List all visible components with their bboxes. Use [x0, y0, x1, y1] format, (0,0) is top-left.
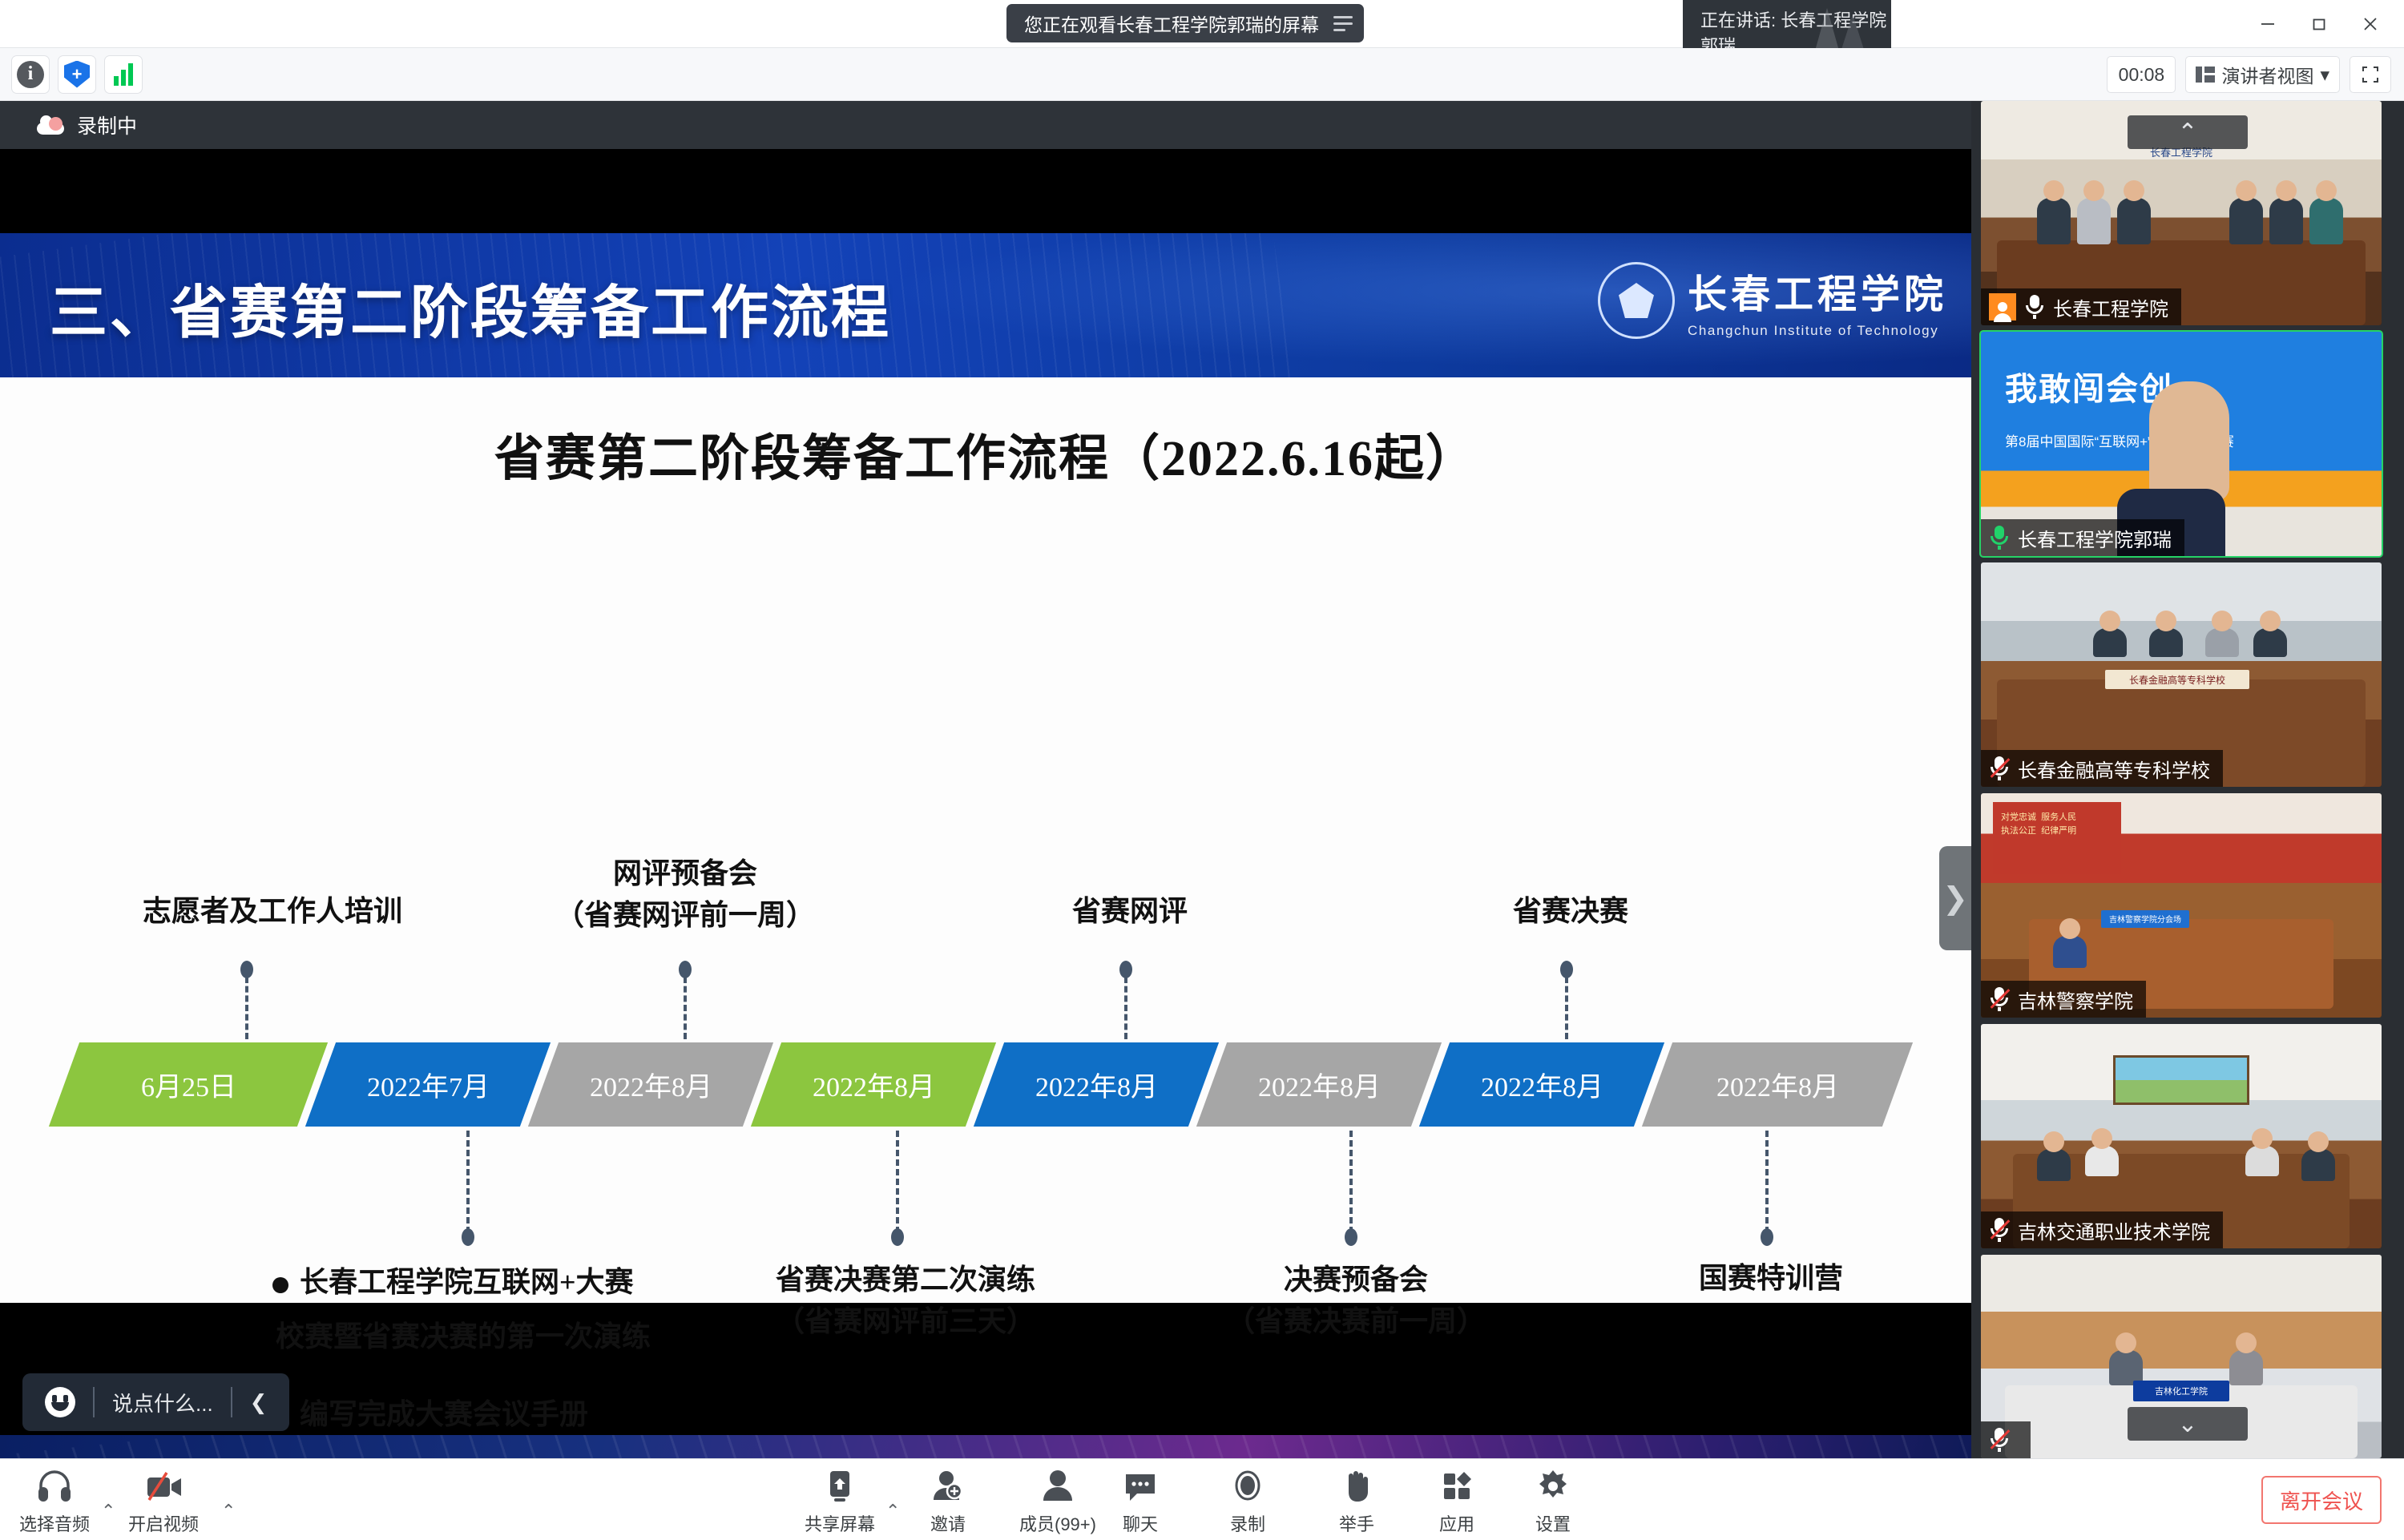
- timeline-marker-dot: [1761, 1228, 1773, 1246]
- chevron-down-icon: ⌄: [2177, 1410, 2197, 1438]
- chat-input[interactable]: 说点什么...: [95, 1381, 231, 1423]
- maximize-button[interactable]: [2293, 1, 2345, 47]
- participant-tile[interactable]: 吉林交通职业技术学院: [1981, 1024, 2382, 1248]
- timeline-segment: 2022年8月: [974, 1042, 1219, 1127]
- timeline-segment: 2022年7月: [305, 1042, 551, 1127]
- timeline-segment-label: 2022年8月: [1481, 1065, 1603, 1104]
- chat-button[interactable]: 聊天: [1122, 1467, 1159, 1536]
- security-button[interactable]: +: [58, 55, 96, 94]
- video-options-caret[interactable]: ⌃: [221, 1501, 236, 1522]
- participant-name-bar: 长春工程学院: [1981, 288, 2181, 325]
- share-screen-label: 共享屏幕: [805, 1510, 875, 1536]
- university-logo-cn: 长春工程学院: [1688, 263, 1947, 320]
- gear-icon: [1535, 1467, 1571, 1506]
- timeline-segment-label: 2022年8月: [1258, 1065, 1381, 1104]
- meeting-timer: 00:08: [2107, 56, 2176, 93]
- bullet-dot-icon: [272, 1277, 288, 1293]
- timeline-segment: 2022年8月: [751, 1042, 996, 1127]
- shield-icon: +: [64, 61, 90, 88]
- participant-name-bar: 长春金融高等专科学校: [1981, 750, 2223, 787]
- zoom-meeting-window: 您正在观看长春工程学院郭瑞的屏幕 正在讲话: 长春工程学院郭瑞 i: [0, 0, 2404, 1540]
- timeline-event-line: 省赛决赛: [1513, 890, 1628, 932]
- mic-active-icon: [1989, 526, 2010, 550]
- timeline-segment-label: 2022年8月: [590, 1065, 712, 1104]
- timeline-event-above: 志愿者及工作人培训: [143, 890, 402, 932]
- settings-label: 设置: [1535, 1510, 1571, 1536]
- audio-button[interactable]: 选择音频: [19, 1467, 90, 1536]
- view-mode-label: 演讲者视图: [2221, 61, 2313, 88]
- chart-title: 省赛第二阶段筹备工作流程（2022.6.16起）: [0, 417, 1971, 490]
- chevron-down-icon: ▾: [2320, 64, 2329, 86]
- participant-name-bar: 吉林交通职业技术学院: [1981, 1211, 2223, 1248]
- fullscreen-button[interactable]: [2350, 56, 2391, 93]
- video-button[interactable]: 开启视频: [128, 1467, 199, 1536]
- timeline-event-line: 志愿者及工作人培训: [143, 890, 402, 932]
- timeline-event-below: 决赛预备会 （省赛决赛前一周）: [1226, 1259, 1486, 1342]
- chevron-up-icon: ⌃: [2177, 119, 2197, 147]
- raise-hand-label: 举手: [1339, 1510, 1374, 1536]
- chat-input-placeholder: 说点什么...: [112, 1388, 213, 1417]
- timeline-stem: [1765, 1131, 1769, 1233]
- meeting-info-button[interactable]: i: [11, 55, 50, 94]
- participant-name: 吉林警察学院: [2018, 986, 2133, 1014]
- video-label: 开启视频: [128, 1510, 199, 1536]
- timeline-event-line: 网评预备会: [555, 853, 815, 894]
- participant-name-bar: [1981, 1421, 2031, 1458]
- screen-share-notice-text: 您正在观看长春工程学院郭瑞的屏幕: [1024, 10, 1319, 37]
- network-quality-button[interactable]: [104, 55, 143, 94]
- mic-muted-icon: [1989, 987, 2010, 1011]
- participant-name-bar: 吉林警察学院: [1981, 981, 2146, 1018]
- participants-button[interactable]: 成员(99+): [1019, 1467, 1096, 1536]
- camera-off-icon: [143, 1467, 184, 1506]
- smiley-icon: [45, 1387, 75, 1417]
- participant-name: 吉林交通职业技术学院: [2018, 1216, 2210, 1244]
- timeline-segment-label: 2022年7月: [367, 1065, 490, 1104]
- timeline-event-line: （省赛决赛前一周）: [1226, 1300, 1486, 1342]
- view-mode-selector[interactable]: 演讲者视图 ▾: [2185, 56, 2340, 93]
- timeline-event-line: 省赛网评: [1072, 890, 1188, 932]
- timeline-marker-dot: [1119, 961, 1132, 978]
- timeline-stem: [1349, 1131, 1353, 1233]
- timeline-segment: 2022年8月: [1196, 1042, 1442, 1127]
- screen-share-notice: 您正在观看长春工程学院郭瑞的屏幕: [1006, 4, 1364, 42]
- timeline-stem: [466, 1131, 470, 1233]
- title-bar: 您正在观看长春工程学院郭瑞的屏幕 正在讲话: 长春工程学院郭瑞: [0, 0, 2404, 48]
- apps-button[interactable]: 应用: [1438, 1467, 1475, 1536]
- record-icon: [1229, 1467, 1266, 1506]
- timeline-segment: 2022年8月: [1419, 1042, 1664, 1127]
- timeline-event-line: 省赛决赛第二次演练: [776, 1259, 1035, 1300]
- timeline-bullet-item: 校赛暨省赛决赛的第一次演练: [272, 1309, 651, 1364]
- timeline-stem: [684, 977, 687, 1039]
- timeline-event-line: 决赛预备会: [1226, 1259, 1486, 1300]
- mic-muted-icon: [1989, 1218, 2010, 1242]
- timeline-event-line: （省赛网评前三天）: [776, 1300, 1035, 1342]
- university-logo-en: Changchun Institute of Technology: [1688, 323, 1947, 339]
- participant-name: 长春工程学院郭瑞: [2018, 524, 2172, 552]
- timeline-event-below: 省赛决赛第二次演练 （省赛网评前三天）: [776, 1259, 1035, 1342]
- timeline-event-below: 国赛特训营: [1699, 1257, 1843, 1299]
- participant-tile[interactable]: 长春金融高等专科学校 长春金融高等专科学校: [1981, 562, 2382, 787]
- chat-collapse-button[interactable]: ❮: [232, 1381, 285, 1423]
- meeting-sub-toolbar: i +: [0, 48, 2404, 101]
- more-menu-icon[interactable]: [1333, 16, 1353, 31]
- close-button[interactable]: [2345, 1, 2396, 47]
- timeline-bullet-group: 长春工程学院互联网+大赛 校赛暨省赛决赛的第一次演练 编写完成大赛会议手册: [272, 1255, 651, 1441]
- leave-meeting-label: 离开会议: [2280, 1486, 2363, 1515]
- cloud-recording-icon: [37, 115, 64, 135]
- timeline-stem: [1124, 977, 1127, 1039]
- timeline-segment: 2022年8月: [528, 1042, 773, 1127]
- raise-hand-button[interactable]: 举手: [1338, 1467, 1375, 1536]
- timeline-segment-label: 2022年8月: [1035, 1065, 1158, 1104]
- timeline-marker-dot: [1345, 1228, 1357, 1246]
- recording-label: 录制中: [77, 111, 137, 139]
- timeline-stem: [1565, 977, 1568, 1039]
- record-button[interactable]: 录制: [1229, 1467, 1266, 1536]
- apps-label: 应用: [1439, 1510, 1474, 1536]
- slide-body: 省赛第二阶段筹备工作流程（2022.6.16起） 6月25日 2022年7月 2…: [0, 377, 1971, 1303]
- participant-name: 长春工程学院: [2053, 293, 2168, 321]
- fullscreen-icon: [2360, 64, 2381, 85]
- university-seal-icon: [1598, 262, 1675, 339]
- timeline-marker-dot: [679, 961, 692, 978]
- chat-input-bar[interactable]: 说点什么... ❮: [22, 1373, 289, 1431]
- participant-tile[interactable]: 我敢闯会创 第8届中国国际“互联网+”创新创业大赛 长春工程学院郭瑞: [1981, 332, 2382, 556]
- timeline-bullet-item: 长春工程学院互联网+大赛: [272, 1255, 651, 1309]
- record-label: 录制: [1230, 1510, 1265, 1536]
- invite-button[interactable]: 邀请: [930, 1467, 966, 1536]
- timeline-event-above: 网评预备会 （省赛网评前一周）: [555, 853, 815, 936]
- mic-on-icon: [2024, 295, 2045, 319]
- share-screen-icon: [821, 1467, 858, 1506]
- chevron-left-icon: ❮: [250, 1390, 268, 1415]
- mic-muted-icon: [1989, 1428, 2010, 1452]
- info-icon: i: [17, 61, 44, 88]
- timeline-bullet-item: 编写完成大赛会议手册: [272, 1387, 651, 1441]
- timeline-stem: [245, 977, 248, 1039]
- invite-user-icon: [930, 1467, 966, 1506]
- slide-footer: [0, 1435, 1971, 1458]
- timeline-marker-dot: [240, 961, 253, 978]
- timeline-event-above: 省赛决赛: [1513, 890, 1628, 932]
- raise-hand-icon: [1338, 1467, 1375, 1506]
- audio-label: 选择音频: [19, 1510, 90, 1536]
- timeline-marker-dot: [462, 1228, 474, 1246]
- filmstrip-scroll-up[interactable]: ⌃: [2128, 115, 2248, 149]
- timeline-marker-dot: [1560, 961, 1573, 978]
- invite-label: 邀请: [930, 1510, 966, 1536]
- participant-name: 长春金融高等专科学校: [2018, 755, 2210, 783]
- audio-options-caret[interactable]: ⌃: [101, 1501, 115, 1522]
- filmstrip-collapse-handle[interactable]: ❯: [1939, 846, 1971, 950]
- participants-icon: [1039, 1467, 1076, 1506]
- share-screen-button[interactable]: 共享屏幕: [805, 1467, 875, 1536]
- signal-bars-icon: [114, 63, 133, 86]
- chat-label: 聊天: [1123, 1510, 1158, 1536]
- slide-header: 三、省赛第二阶段筹备工作流程 长春工程学院 Changchun Institut…: [0, 233, 1971, 377]
- sub-toolbar-right: 00:08 演讲者视图 ▾: [2107, 48, 2391, 101]
- timeline-event-above: 省赛网评: [1072, 890, 1188, 932]
- headset-icon: [35, 1467, 74, 1506]
- slide-header-title: 三、省赛第二阶段筹备工作流程: [50, 265, 891, 349]
- window-controls: [2242, 0, 2396, 48]
- settings-button[interactable]: 设置: [1535, 1467, 1571, 1536]
- timeline-stem: [896, 1131, 899, 1233]
- participant-filmstrip: ⌃ 长春工程学院 长春工程学院 我敢闯会创: [1971, 101, 2404, 1458]
- timeline-segment: 2022年8月: [1642, 1042, 1913, 1127]
- speaker-view-icon: [2196, 65, 2215, 84]
- university-logo: 长春工程学院 Changchun Institute of Technology: [1598, 262, 1947, 339]
- participant-name-bar: 长春工程学院郭瑞: [1981, 519, 2184, 556]
- chat-bubble-icon: [1122, 1467, 1159, 1506]
- timeline-segment: 6月25日: [49, 1042, 328, 1127]
- timeline-segment-label: 2022年8月: [813, 1065, 935, 1104]
- emoji-button[interactable]: [27, 1381, 93, 1423]
- shared-screen-stage: 录制中 三、省赛第二阶段筹备工作流程 长春工程学院 Changchun Inst…: [0, 101, 1971, 1458]
- apps-icon: [1438, 1467, 1475, 1506]
- leave-meeting-button[interactable]: 离开会议: [2261, 1476, 2382, 1524]
- timeline-marker-dot: [891, 1228, 904, 1246]
- meeting-toolbar: 选择音频 ⌃ 开启视频 ⌃ 共享屏幕 ⌃ 邀请 成员(9: [0, 1458, 2404, 1540]
- timeline-segment-label: 6月25日: [141, 1065, 236, 1104]
- presentation-slide: 三、省赛第二阶段筹备工作流程 长春工程学院 Changchun Institut…: [0, 233, 1971, 1303]
- recording-banner: 录制中: [0, 101, 1971, 149]
- chevron-right-icon: ❯: [1942, 881, 1968, 917]
- participants-label: 成员(99+): [1019, 1510, 1096, 1536]
- mic-muted-icon: [1989, 756, 2010, 780]
- timeline-event-line: 国赛特训营: [1699, 1257, 1843, 1299]
- avatar-icon: [1989, 293, 2016, 320]
- participant-tile[interactable]: 对党忠诚 服务人民执法公正 纪律严明 吉林警察学院分会场 吉林警察学院: [1981, 793, 2382, 1018]
- filmstrip-scroll-down[interactable]: ⌄: [2128, 1407, 2248, 1441]
- timeline-event-line: （省赛网评前一周）: [555, 894, 815, 936]
- share-options-caret[interactable]: ⌃: [885, 1501, 900, 1522]
- minimize-button[interactable]: [2242, 1, 2293, 47]
- timeline-segment-label: 2022年8月: [1716, 1065, 1839, 1104]
